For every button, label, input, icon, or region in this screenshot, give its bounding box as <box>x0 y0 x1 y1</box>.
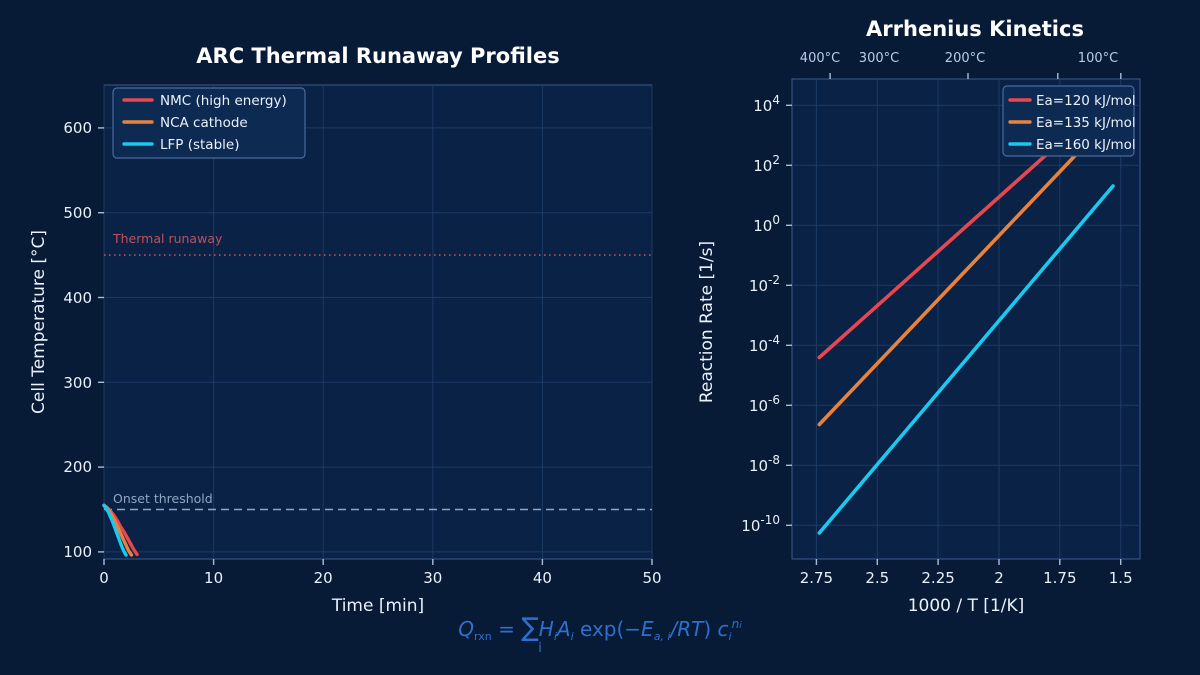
right-xtick-label: 2.5 <box>865 569 889 587</box>
secondary-xtick-label-200c: 200°C <box>945 51 985 66</box>
left-panel-title: ARC Thermal Runaway Profiles <box>196 44 559 68</box>
left-plot-y-axis-label: Cell Temperature [°C] <box>29 230 49 414</box>
left-ytick-label: 100 <box>63 543 92 561</box>
left-ytick-label: 600 <box>63 119 92 137</box>
right-legend-label-ea135: Ea=135 kJ/mol <box>1036 115 1136 131</box>
left-legend-label-nmc: NMC (high energy) <box>160 93 287 109</box>
left-plot-legend[interactable]: NMC (high energy) NCA cathode LFP (stabl… <box>113 88 305 158</box>
figure-canvas: ARC Thermal Runaway Profiles <box>0 0 1200 675</box>
right-plot-legend[interactable]: Ea=120 kJ/mol Ea=135 kJ/mol Ea=160 kJ/mo… <box>1003 86 1136 156</box>
onset-threshold-label: Onset threshold <box>113 491 213 506</box>
right-plot-x-axis-label: 1000 / T [1/K] <box>908 596 1025 616</box>
left-ytick-label: 500 <box>63 204 92 222</box>
left-ytick-label: 400 <box>63 289 92 307</box>
left-xtick-label: 0 <box>99 569 109 587</box>
left-legend-label-lfp: LFP (stable) <box>160 137 239 153</box>
right-legend-label-ea120: Ea=120 kJ/mol <box>1036 93 1136 109</box>
secondary-xtick-label-300c: 300°C <box>859 51 899 66</box>
equation-sum-index: i <box>538 641 542 656</box>
equation-text: Qrxn = ∑HiAi exp(−Ea, i/RT) cini <box>458 613 742 643</box>
right-xtick-label: 2.25 <box>921 569 954 587</box>
left-plot-x-axis-label: Time [min] <box>331 596 424 616</box>
left-xtick-label: 10 <box>204 569 223 587</box>
left-xtick-label: 40 <box>533 569 552 587</box>
right-xtick-label: 2.75 <box>800 569 833 587</box>
right-plot-y-axis-label: Reaction Rate [1/s] <box>697 241 717 403</box>
right-legend-label-ea160: Ea=160 kJ/mol <box>1036 137 1136 153</box>
right-panel-title: Arrhenius Kinetics <box>866 17 1084 41</box>
left-xtick-label: 20 <box>314 569 333 587</box>
right-xtick-label: 1.5 <box>1109 569 1133 587</box>
left-ytick-label: 200 <box>63 458 92 476</box>
right-xtick-label: 2 <box>994 569 1004 587</box>
secondary-xtick-label-100c: 100°C <box>1078 51 1118 66</box>
secondary-xtick-label-400c: 400°C <box>800 51 840 66</box>
left-panel: ARC Thermal Runaway Profiles <box>29 44 662 616</box>
thermal-runaway-label: Thermal runaway <box>112 231 223 246</box>
left-legend-label-nca: NCA cathode <box>160 115 248 131</box>
left-ytick-label: 300 <box>63 374 92 392</box>
left-xtick-label: 30 <box>423 569 442 587</box>
left-xtick-label: 50 <box>642 569 661 587</box>
figure-svg: ARC Thermal Runaway Profiles <box>0 0 1200 675</box>
right-xtick-label: 1.75 <box>1043 569 1076 587</box>
